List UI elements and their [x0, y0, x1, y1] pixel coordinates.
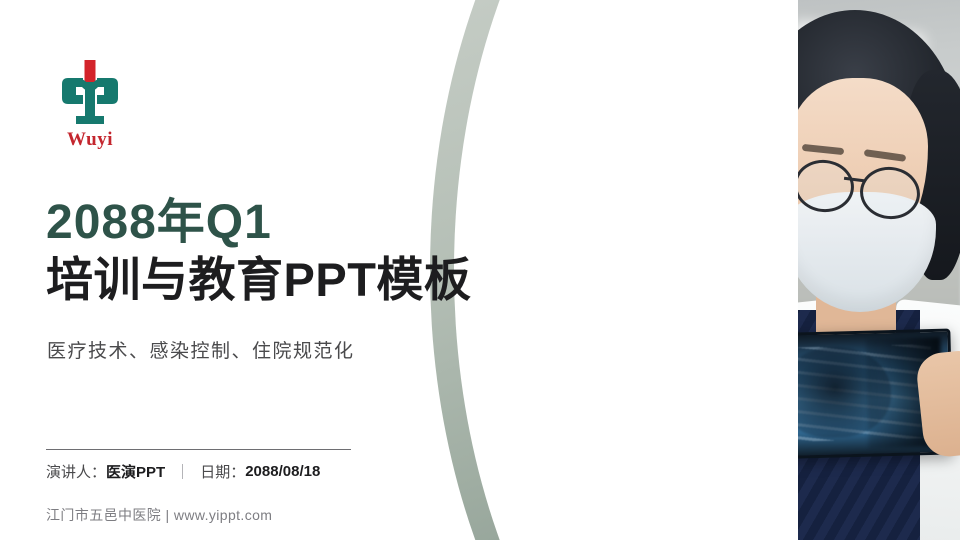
- subtitle: 医疗技术、感染控制、住院规范化: [47, 336, 355, 363]
- chest-xray-film: [604, 328, 953, 463]
- date-value: 2088/08/18: [245, 463, 320, 480]
- photo-scene: [400, 0, 960, 540]
- hero-photo: [400, 0, 960, 540]
- page-title: 培训与教育PPT模板: [46, 253, 471, 307]
- presentation-slide: Wuyi 2088年Q1 培训与教育PPT模板 医疗技术、感染控制、住院规范化 …: [0, 0, 960, 540]
- meta-separator: [182, 464, 183, 479]
- meta-line: 演讲人：医演PPT 日期：2088/08/18: [46, 461, 320, 482]
- logo-wordmark: Wuyi: [54, 130, 126, 149]
- face-mask: [578, 194, 754, 322]
- wuyi-hospital-logo: Wuyi: [54, 58, 126, 162]
- presenter-value: 医演PPT: [106, 461, 165, 482]
- doctor-female: [730, 10, 960, 540]
- title-year: 2088年Q1: [46, 198, 272, 248]
- footer-text: 江门市五邑中医院 | www.yippt.com: [46, 505, 272, 525]
- presenter-label: 演讲人：: [46, 461, 106, 482]
- date-label: 日期：: [200, 461, 245, 482]
- hero-photo-image: [400, 0, 960, 540]
- logo-mark-icon: [54, 58, 126, 128]
- meta-divider: [46, 449, 351, 450]
